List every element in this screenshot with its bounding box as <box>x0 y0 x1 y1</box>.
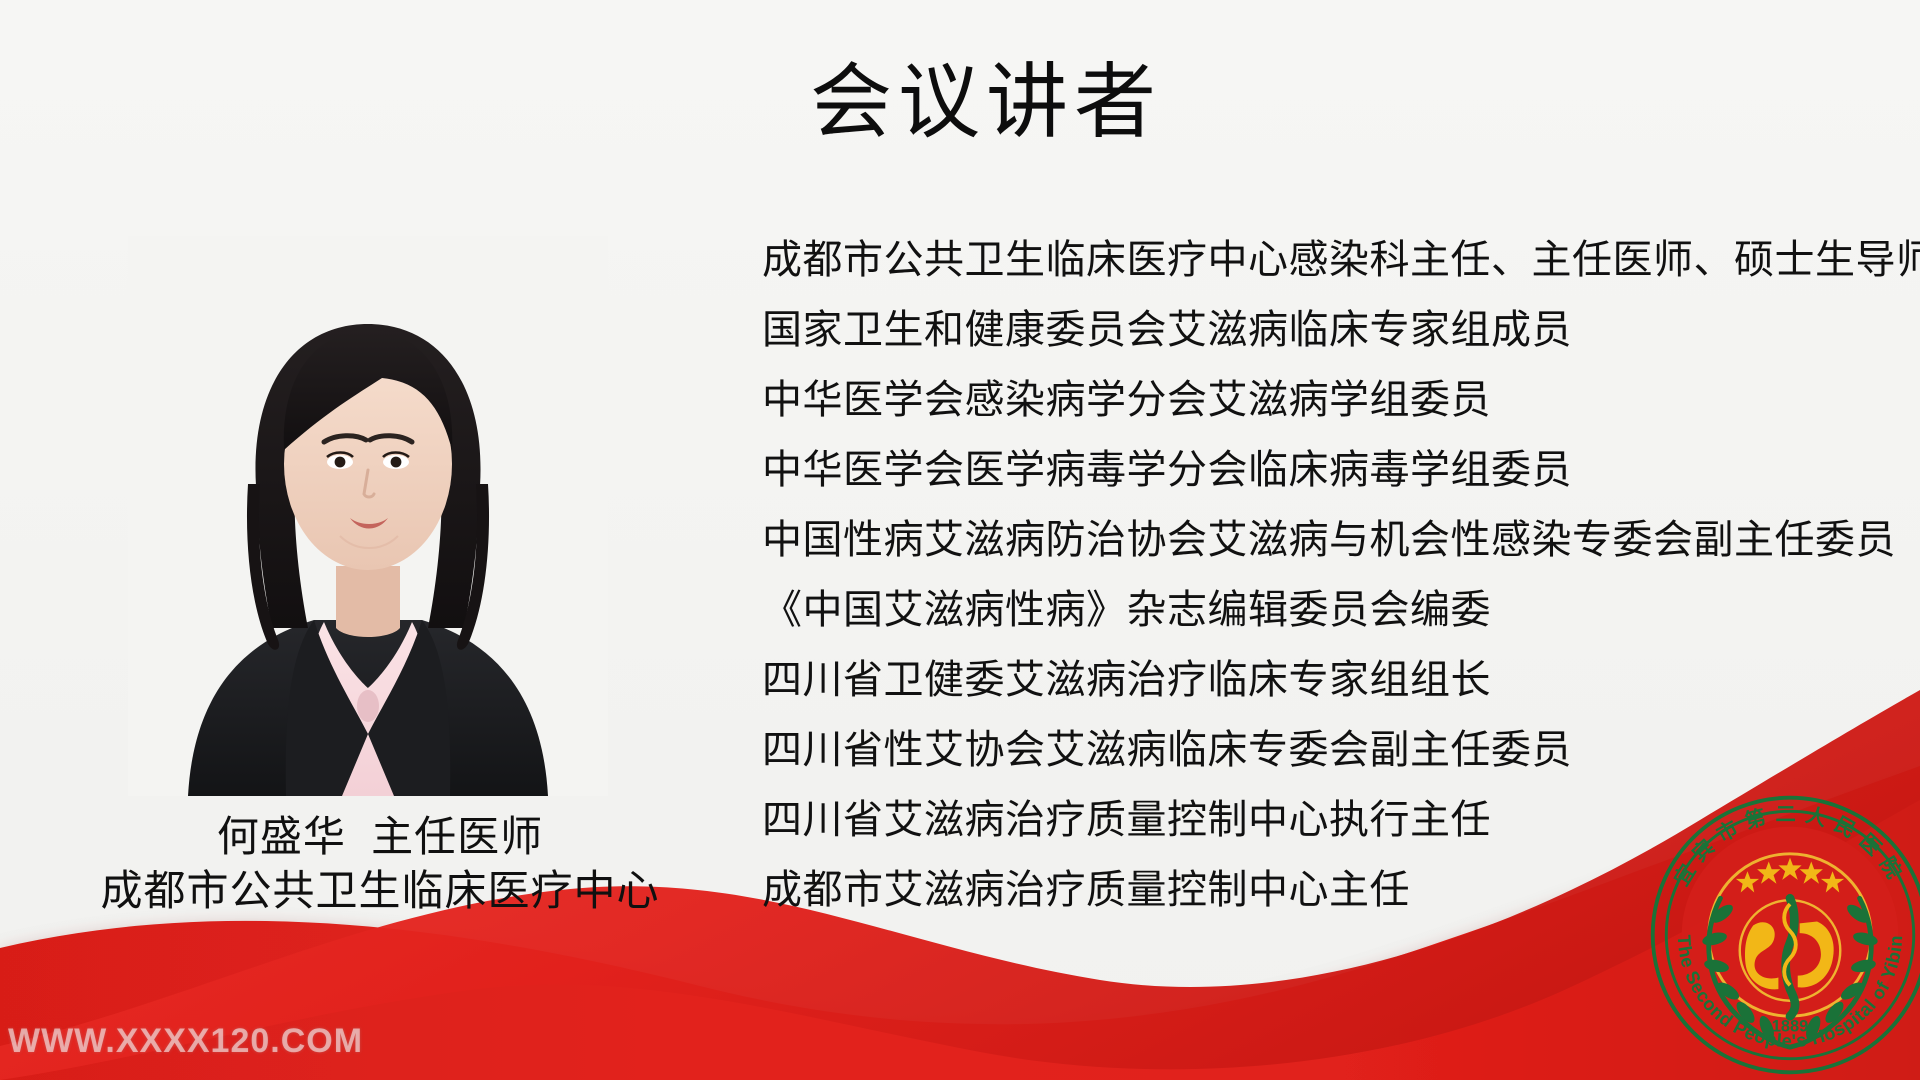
speaker-name: 何盛华 主任医师 <box>30 810 730 864</box>
bio-line: 中华医学会感染病学分会艾滋病学组委员 <box>762 380 1920 424</box>
bio-line: 《中国艾滋病性病》杂志编辑委员会编委 <box>762 590 1920 634</box>
bio-line: 中华医学会医学病毒学分会临床病毒学组委员 <box>762 450 1920 494</box>
presentation-slide: 会议讲者 <box>0 0 1920 1080</box>
bio-line: 中国性病艾滋病防治协会艾滋病与机会性感染专委会副主任委员 <box>762 520 1920 564</box>
bio-line: 四川省性艾协会艾滋病临床专委会副主任委员 <box>762 730 1920 774</box>
seal-year: -1889- <box>1766 1018 1813 1036</box>
bio-line: 国家卫生和健康委员会艾滋病临床专家组成员 <box>762 310 1920 354</box>
bio-line: 成都市公共卫生临床医疗中心感染科主任、主任医师、硕士生导师 <box>762 240 1920 284</box>
speaker-photo <box>128 236 608 796</box>
bio-line: 四川省卫健委艾滋病治疗临床专家组组长 <box>762 660 1920 704</box>
hospital-seal-logo: 宜宾市第二人民医院 The Second People's Hospital o… <box>1645 790 1920 1080</box>
portrait-illustration <box>128 236 608 796</box>
speaker-organization: 成都市公共卫生临床医疗中心 <box>30 864 730 918</box>
page-title: 会议讲者 <box>810 62 1162 144</box>
speaker-caption: 何盛华 主任医师 成都市公共卫生临床医疗中心 <box>30 810 730 918</box>
site-watermark: WWW.XXXX120.COM <box>8 1022 363 1061</box>
